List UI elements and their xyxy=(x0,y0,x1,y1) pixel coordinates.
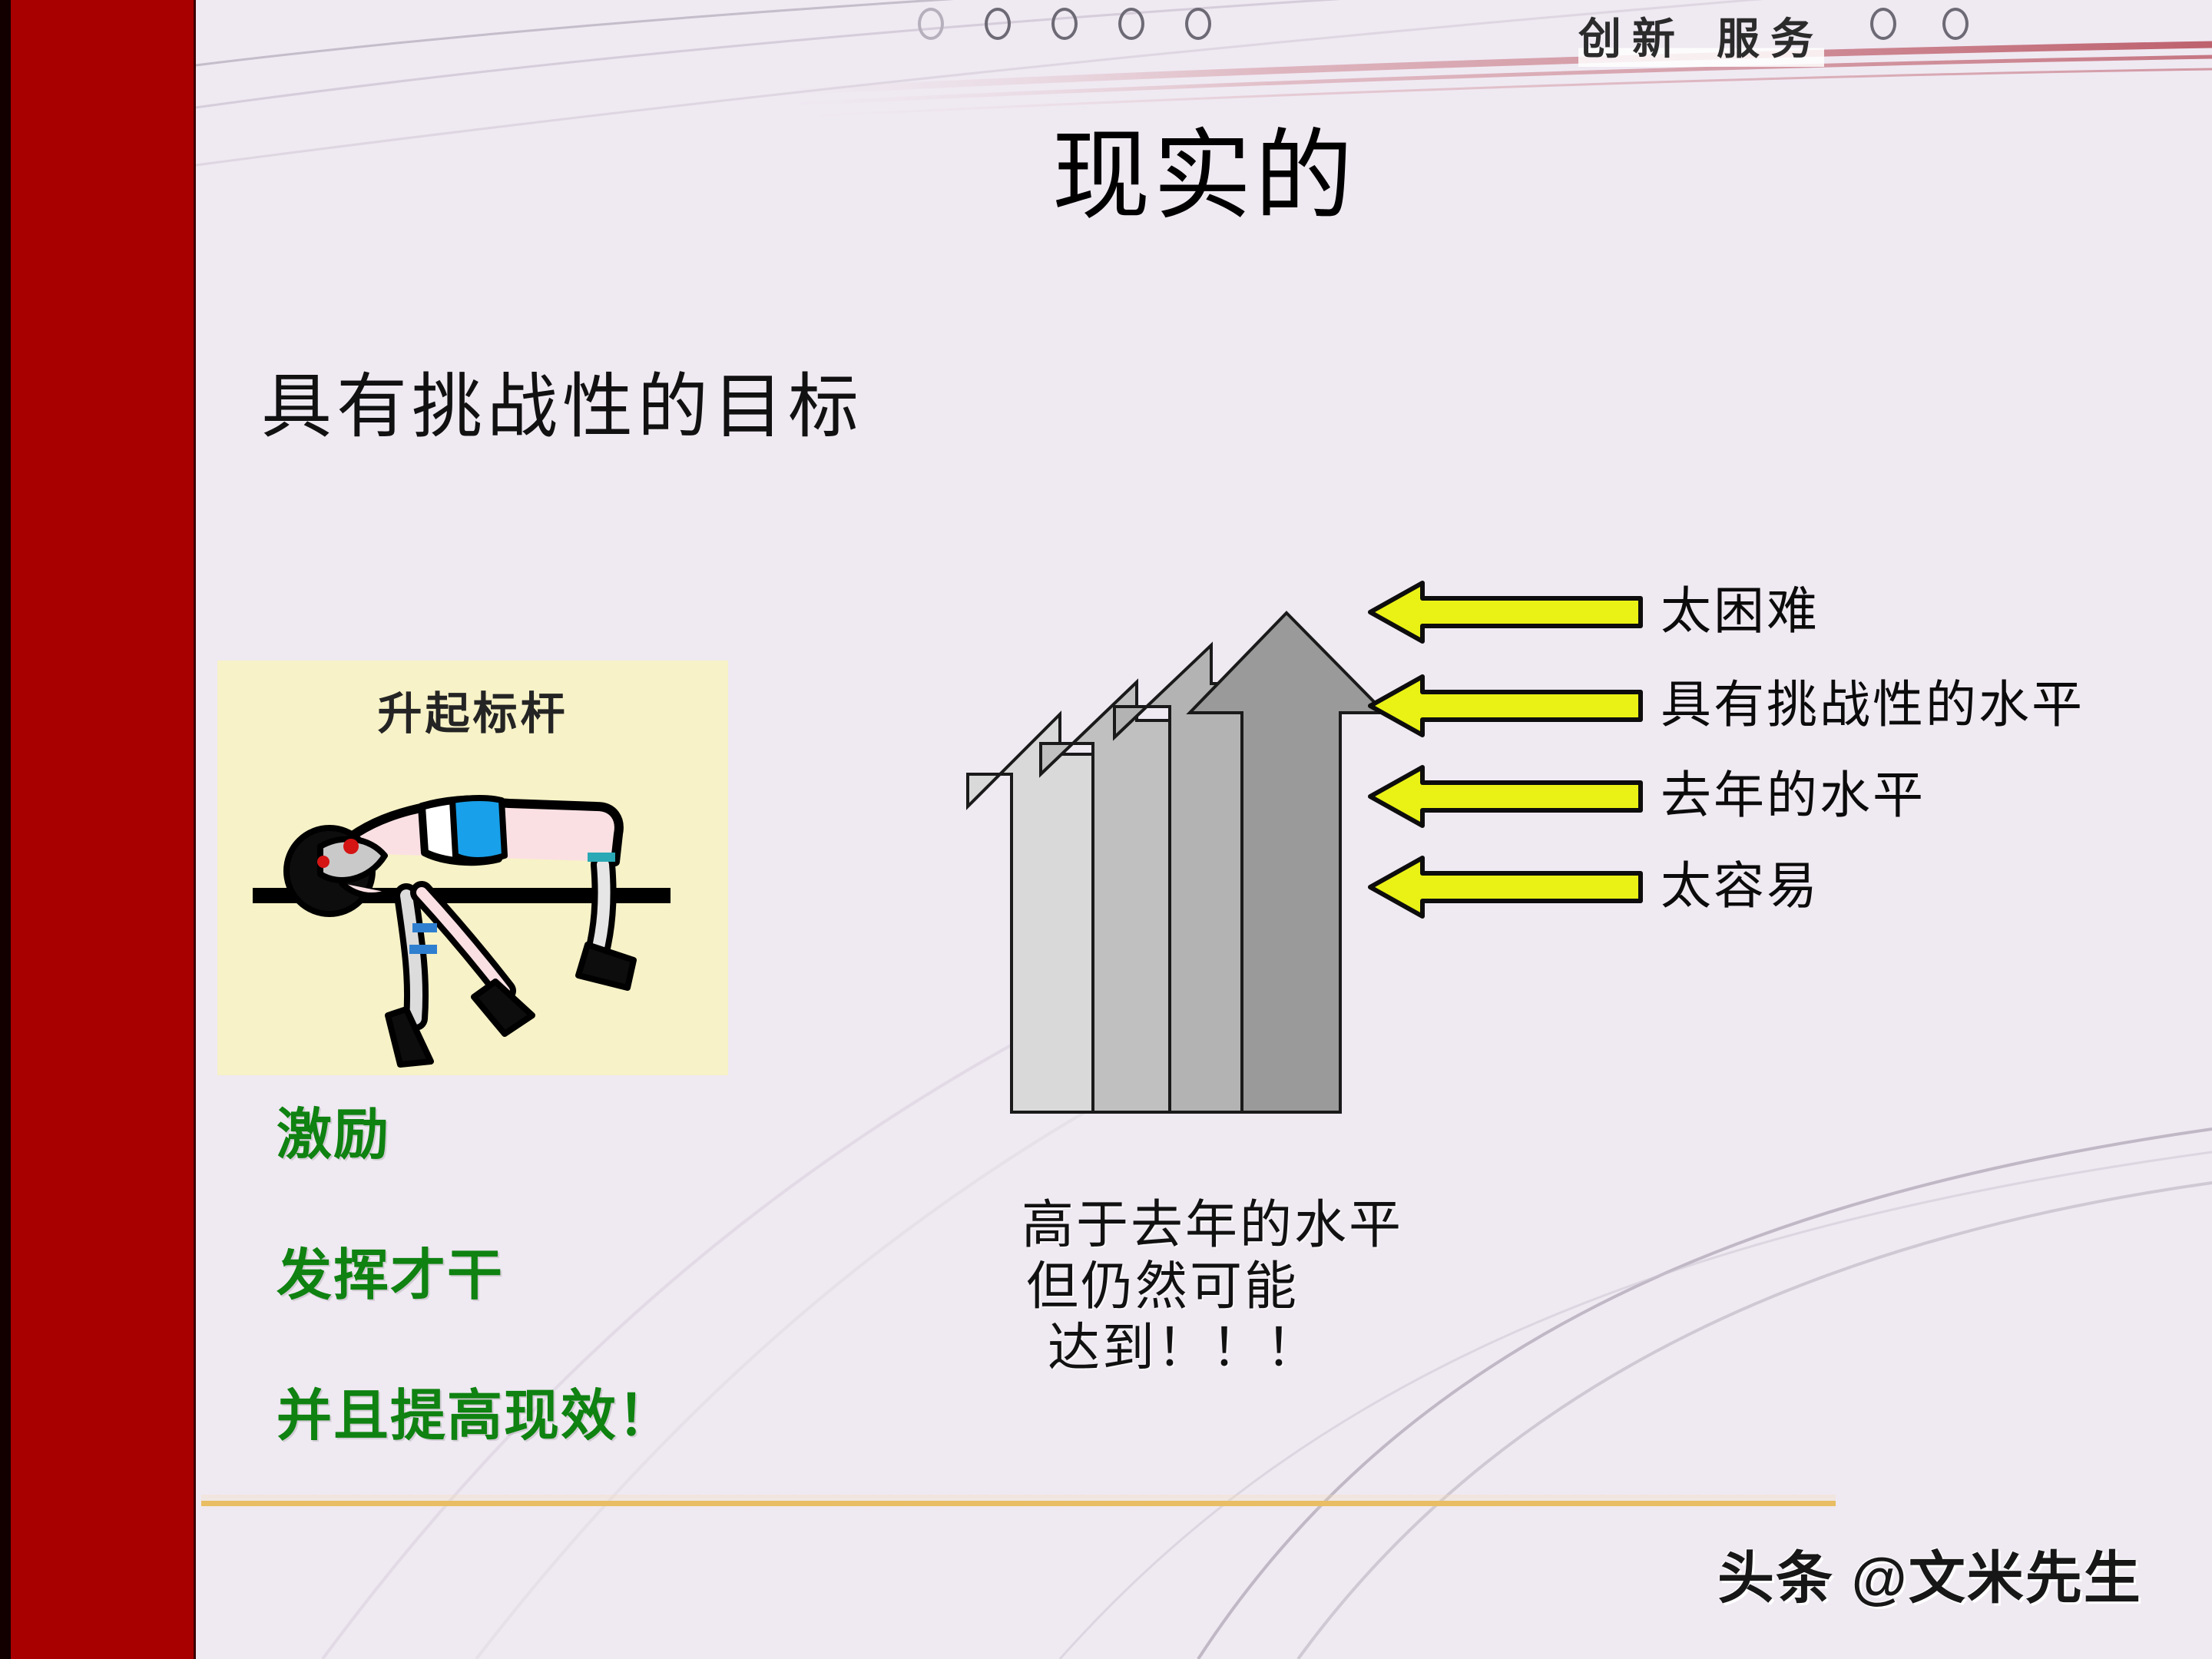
circle-icon xyxy=(1870,8,1896,40)
circle-icon xyxy=(1942,8,1969,40)
benefits-list: 激励 发挥才干 并且提高现效！ xyxy=(276,1089,674,1511)
high-jumper-clipart-icon xyxy=(240,745,701,1068)
annotation-line-1: 高于去年的水平 xyxy=(1022,1194,1403,1256)
brand-char-4: 务 xyxy=(1770,16,1824,64)
slide-root: 创新服务 现实的 具有挑战性的目标 升起标杆 xyxy=(0,0,2212,1659)
left-accent-bar xyxy=(0,0,196,1659)
list-item: 发挥才干 xyxy=(276,1230,674,1310)
header: 创新服务 xyxy=(196,0,2212,92)
callout-label: 具有挑战性的水平 xyxy=(1661,680,2085,731)
circle-icon xyxy=(1051,8,1078,40)
chart-annotation: 高于去年的水平 但仍然可能 达到！！！ xyxy=(1022,1194,1403,1379)
brand-text: 创新服务 xyxy=(1578,5,1824,67)
annotation-line-2: 但仍然可能 xyxy=(1022,1256,1403,1317)
left-arrow-icon xyxy=(1367,764,1644,829)
brand-char-2: 新 xyxy=(1632,16,1686,64)
callout-row-last-year: 去年的水平 xyxy=(1367,764,1926,829)
page-title: 现实的 xyxy=(196,123,2212,231)
brand-char-1: 创 xyxy=(1578,16,1632,64)
circle-icon xyxy=(1118,8,1144,40)
callout-label: 太容易 xyxy=(1661,862,1820,912)
circle-icon xyxy=(985,8,1011,40)
left-arrow-icon xyxy=(1367,674,1644,738)
watermark: 头条 @文米先生 xyxy=(1717,1532,2142,1614)
callout-label: 太困难 xyxy=(1661,587,1820,637)
clipart-card: 升起标杆 xyxy=(217,661,728,1075)
callout-label: 去年的水平 xyxy=(1661,771,1926,822)
list-item: 并且提高现效！ xyxy=(276,1370,674,1451)
goal-level-arrow-chart xyxy=(964,584,1394,1114)
page-subtitle: 具有挑战性的目标 xyxy=(261,349,863,452)
callout-group: 太困难 具有挑战性的水平 去年的水平 太容易 xyxy=(1367,580,2212,902)
header-dots-right xyxy=(1870,8,1969,40)
left-arrow-icon xyxy=(1367,580,1644,644)
list-item: 激励 xyxy=(276,1089,674,1170)
callout-row-too-easy: 太容易 xyxy=(1367,855,1820,919)
header-dots-left xyxy=(918,8,1211,40)
clipart-caption: 升起标杆 xyxy=(217,677,728,742)
left-arrow-icon xyxy=(1367,855,1644,919)
arrow-bar-level-1 xyxy=(968,714,1093,1112)
callout-row-challenging: 具有挑战性的水平 xyxy=(1367,674,2085,738)
callout-row-too-difficult: 太困难 xyxy=(1367,580,1820,644)
circle-icon xyxy=(918,8,944,40)
annotation-line-3: 达到！！！ xyxy=(1022,1317,1403,1379)
brand-char-3: 服 xyxy=(1717,16,1770,64)
circle-icon xyxy=(1185,8,1211,40)
footer-divider xyxy=(201,1501,1836,1506)
